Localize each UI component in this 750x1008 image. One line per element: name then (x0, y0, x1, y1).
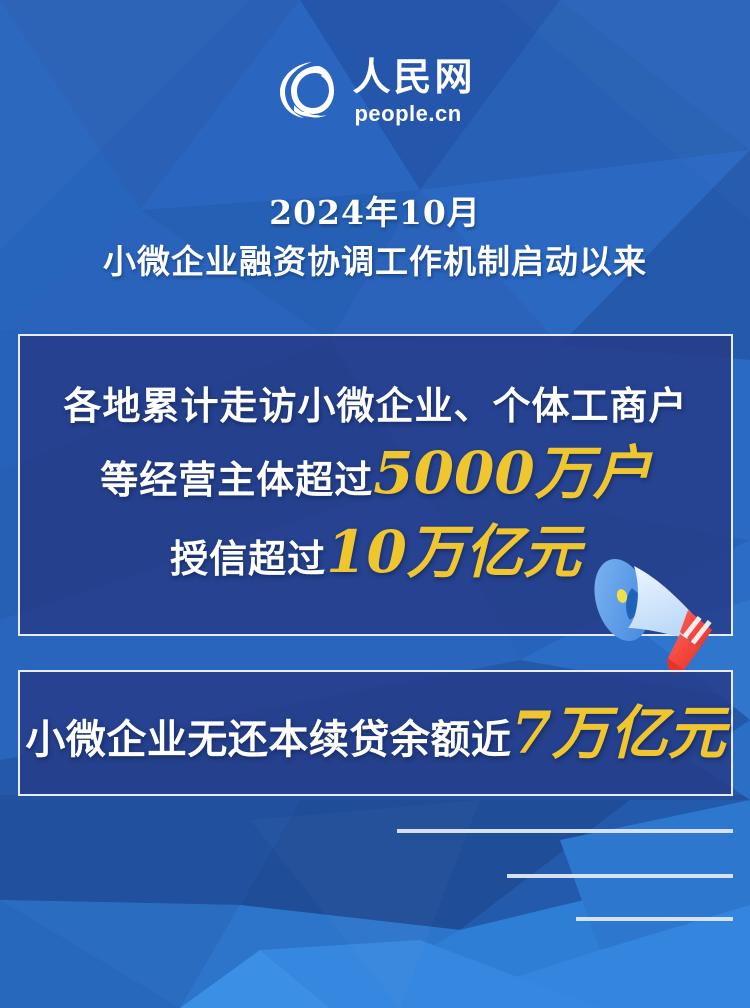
title-line-2: 小微企业融资协调工作机制启动以来 (0, 241, 750, 283)
stat-text: 各地累计走访小微企业、个体工商户 (63, 385, 687, 428)
brand-name-cn: 人民网 (352, 58, 475, 100)
stat-box-1-line-1: 各地累计走访小微企业、个体工商户 (63, 385, 687, 428)
page-title: 2024年10月 小微企业融资协调工作机制启动以来 (0, 192, 750, 283)
stat-box-1-line-2: 等经营主体超过 5000万户 (100, 441, 650, 506)
stat-text: 等经营主体超过 (100, 459, 373, 502)
deco-rule-1 (397, 829, 733, 833)
stat-highlight-value: 5000万户 (373, 441, 650, 506)
stat-text: 小微企业无还本续贷余额近 (25, 718, 511, 763)
stat-box-2-line-1: 小微企业无还本续贷余额近 7万亿元 (25, 701, 725, 766)
title-line-1: 2024年10月 (0, 192, 750, 234)
stat-text: 授信超过 (170, 538, 326, 581)
brand-logo: 人民网 people.cn (0, 52, 750, 128)
brand-wordmark: 人民网 people.cn (352, 58, 475, 125)
brand-name-latin: people.cn (354, 103, 461, 125)
infographic-poster: 人民网 people.cn 2024年10月 小微企业融资协调工作机制启动以来 … (0, 0, 750, 1008)
people-globe-logo-icon (274, 58, 338, 122)
stat-box-1: 各地累计走访小微企业、个体工商户 等经营主体超过 5000万户 授信超过 10万… (18, 334, 733, 636)
stat-box-2: 小微企业无还本续贷余额近 7万亿元 (18, 670, 733, 796)
stat-highlight-value: 7万亿元 (511, 701, 725, 766)
stat-box-1-line-3: 授信超过 10万亿元 (170, 520, 581, 585)
deco-rule-3 (576, 917, 733, 921)
stat-highlight-value: 10万亿元 (326, 520, 581, 585)
deco-rule-2 (507, 874, 733, 878)
